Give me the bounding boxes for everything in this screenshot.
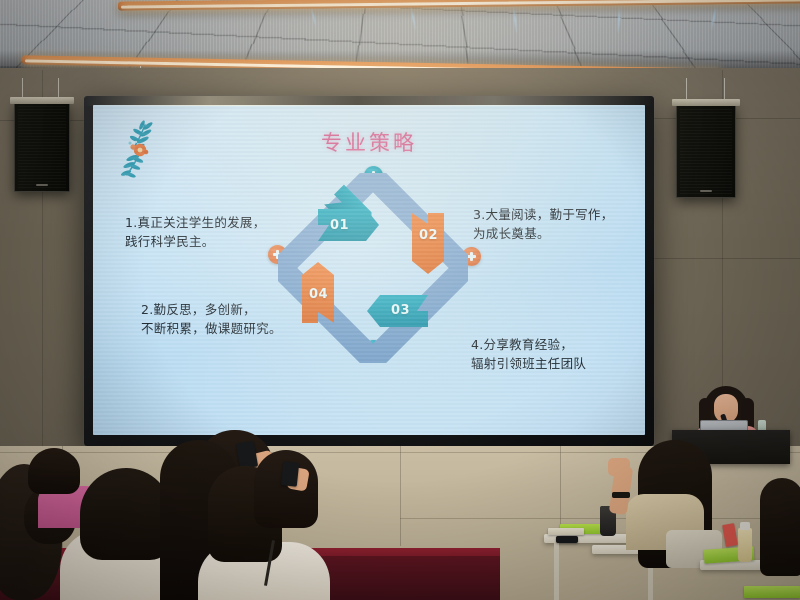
cycle-step-02	[412, 213, 444, 274]
speaker-logo	[700, 190, 712, 192]
smartphone	[556, 536, 578, 543]
presentation-slide: 专业策略 1.真正关注学生的发展， 践行科学民主。 2.勤反思，多创新， 不断积…	[93, 105, 645, 435]
speaker-right	[676, 104, 736, 198]
slide-point-4: 4.分享教育经验， 辐射引领班主任团队	[471, 335, 586, 374]
bottle-cap	[740, 522, 750, 530]
slide-point-1: 1.真正关注学生的发展， 践行科学民主。	[125, 213, 266, 252]
audience-member-head	[28, 448, 80, 494]
audience-member-head	[760, 478, 800, 576]
desk-leg	[554, 543, 559, 600]
floral-sprig-icon	[115, 119, 171, 181]
cycle-ring	[281, 176, 465, 360]
cycle-diagram: 01 02 03 04	[278, 173, 468, 363]
speaker-left	[14, 102, 70, 192]
smartphone	[281, 461, 299, 487]
wall-panel-divider	[560, 446, 561, 536]
slide-point-3: 3.大量阅读，勤于写作， 为成长奠基。	[473, 205, 614, 244]
speaker-grille	[680, 108, 732, 194]
speaker-mount-bracket	[672, 99, 740, 106]
speaker-mount-bracket	[10, 97, 74, 104]
cycle-label-01: 01	[330, 218, 349, 233]
cycle-diagram-svg	[278, 173, 468, 363]
wall-panel-divider	[400, 446, 401, 546]
cycle-label-03: 03	[391, 303, 410, 318]
notebook	[548, 528, 584, 535]
cycle-label-02: 02	[419, 228, 438, 243]
projection-screen[interactable]: 专业策略 1.真正关注学生的发展， 践行科学民主。 2.勤反思，多创新， 不断积…	[84, 96, 654, 446]
slide-title: 专业策略	[321, 127, 417, 157]
notebook	[744, 586, 800, 598]
wrist-watch	[612, 492, 630, 498]
water-bottle	[738, 528, 752, 562]
audience-hand	[608, 458, 630, 476]
cycle-label-04: 04	[309, 287, 328, 302]
slide-point-2: 2.勤反思，多创新， 不断积累，做课题研究。	[141, 300, 282, 339]
conference-room-scene: 专业策略 1.真正关注学生的发展， 践行科学民主。 2.勤反思，多创新， 不断积…	[0, 0, 800, 600]
audience-member-head	[80, 468, 172, 560]
speaker-logo	[36, 184, 48, 186]
wall-seam	[654, 258, 800, 259]
speaker-grille	[18, 106, 66, 188]
